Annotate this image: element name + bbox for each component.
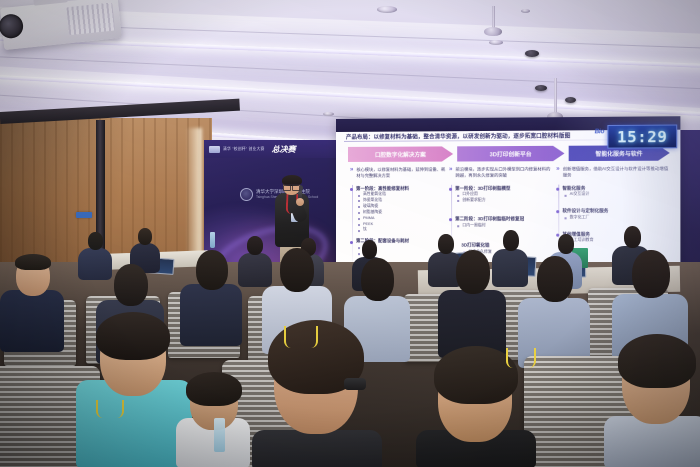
person-torso bbox=[0, 290, 64, 352]
bullet-group: 第一阶段：3D打印树脂模型 口外应用 创新要求配方 bbox=[449, 185, 552, 204]
wall-sign bbox=[76, 212, 92, 218]
glasses-icon bbox=[344, 378, 366, 390]
event-banner-text: 清华 "校创杯" 创业大赛 bbox=[223, 146, 264, 152]
bullet-sub: 数字化工厂 bbox=[562, 215, 671, 221]
water-bottle bbox=[210, 232, 215, 248]
person-head bbox=[537, 256, 573, 302]
column-lead: » 前沿模块，逐步实现从口外模型到口内修复材料的跨越，再到永久修复的突破 bbox=[449, 166, 552, 179]
university-seal-icon bbox=[240, 188, 253, 201]
ceiling-speaker bbox=[377, 6, 397, 13]
person-hair bbox=[96, 312, 170, 360]
ceiling-speaker bbox=[489, 40, 503, 45]
event-banner-highlight: 总决赛 bbox=[272, 144, 296, 155]
event-logo-mark bbox=[209, 146, 220, 153]
glasses-icon bbox=[283, 184, 300, 188]
bullet-group: 软件设计与定制化服务 数字化工厂 bbox=[556, 208, 672, 221]
conference-room-scene: 清华 "校创杯" 创业大赛 总决赛 清华大学深圳国际研究生院 Tsinghua … bbox=[0, 0, 700, 467]
person-head bbox=[138, 228, 152, 245]
event-banner: 清华 "校创杯" 创业大赛 总决赛 bbox=[204, 140, 344, 158]
countdown-timer: 15:29 bbox=[607, 124, 677, 148]
column-lead: » 核心模块，以修复材料为基础，延伸到设备、耗材与完整解决方案 bbox=[350, 167, 449, 180]
chevron-label: 口腔数字化解决方案 bbox=[375, 150, 426, 158]
person-head bbox=[280, 248, 314, 292]
chevron-label: 智能化服务与软件 bbox=[595, 149, 642, 157]
audience-member bbox=[0, 256, 64, 352]
bullet-group: 第一阶段：高性能修复材料 高性能氧化锆 饰瓷氧化锆 玻璃陶瓷 树脂基陶瓷 PMM… bbox=[350, 185, 449, 233]
audience-member-front bbox=[76, 318, 192, 467]
person-hair bbox=[186, 372, 242, 406]
lanyard bbox=[284, 326, 318, 348]
column-lead: » 创新增值服务，借助AI交互设计与软件设计等推动增值服务 bbox=[556, 166, 672, 179]
person-head bbox=[247, 236, 263, 255]
person-torso bbox=[252, 430, 382, 467]
water-bottle bbox=[214, 418, 225, 452]
person-head bbox=[558, 234, 574, 254]
person-hair bbox=[618, 334, 696, 388]
chevron-label: 3D打印创新平台 bbox=[490, 150, 532, 158]
audience-member-front bbox=[604, 340, 700, 467]
audience-member-front bbox=[252, 326, 382, 467]
person-head bbox=[456, 250, 490, 294]
bullet-sub: 创新要求配方 bbox=[455, 198, 552, 204]
person-head bbox=[88, 232, 103, 250]
smoke-detector bbox=[565, 97, 576, 103]
audience-member bbox=[438, 250, 506, 358]
slide-brand-tag: Bio bbox=[595, 129, 605, 135]
chevron-stage-1: 口腔数字化解决方案 bbox=[348, 146, 453, 162]
ceiling-speaker bbox=[323, 112, 334, 116]
bullet-sub: AI交互设计 bbox=[562, 192, 671, 198]
column-lead-text: 核心模块，以修复材料为基础，延伸到设备、耗材与完整解决方案 bbox=[356, 167, 449, 180]
audience-member-front bbox=[416, 354, 536, 467]
audience-member-front bbox=[176, 376, 250, 467]
person-head bbox=[632, 250, 670, 298]
column-lead-text: 前沿模块，逐步实现从口外模型到口内修复材料的跨越，再到永久修复的突破 bbox=[455, 166, 552, 179]
countdown-timer-value: 15:29 bbox=[617, 127, 667, 146]
person-head bbox=[114, 264, 148, 306]
lead-arrow-icon: » bbox=[449, 167, 452, 173]
sprinkler-head bbox=[484, 27, 502, 36]
lanyard bbox=[96, 400, 124, 418]
projector-mount bbox=[33, 0, 68, 6]
person-head bbox=[361, 258, 394, 301]
bullet-group: 第二阶段：3D打印树脂临时修复冠 口内一周临时 bbox=[449, 216, 552, 229]
bullet-sub: 钛 bbox=[356, 227, 449, 233]
chevron-stage-2: 3D打印创新平台 bbox=[457, 146, 564, 162]
person-head bbox=[362, 240, 377, 259]
projector-lens-icon bbox=[0, 13, 24, 39]
smoke-detector bbox=[525, 50, 539, 57]
smoke-detector bbox=[535, 85, 547, 91]
presenter-hand bbox=[296, 198, 304, 206]
person-head bbox=[196, 250, 228, 290]
person-head bbox=[624, 226, 641, 248]
person-head bbox=[503, 230, 519, 251]
bullet-group: 智能化服务 AI交互设计 bbox=[556, 185, 672, 198]
column-lead-text: 创新增值服务，借助AI交互设计与软件设计等推动增值服务 bbox=[563, 166, 672, 179]
lead-arrow-icon: » bbox=[350, 167, 353, 173]
person-hair bbox=[15, 254, 51, 270]
lanyard bbox=[506, 348, 536, 368]
projector-vent bbox=[66, 3, 115, 36]
ceiling-speaker bbox=[521, 9, 530, 13]
lead-arrow-icon: » bbox=[556, 166, 559, 172]
bullet-sub: 口内一周临时 bbox=[455, 223, 552, 229]
